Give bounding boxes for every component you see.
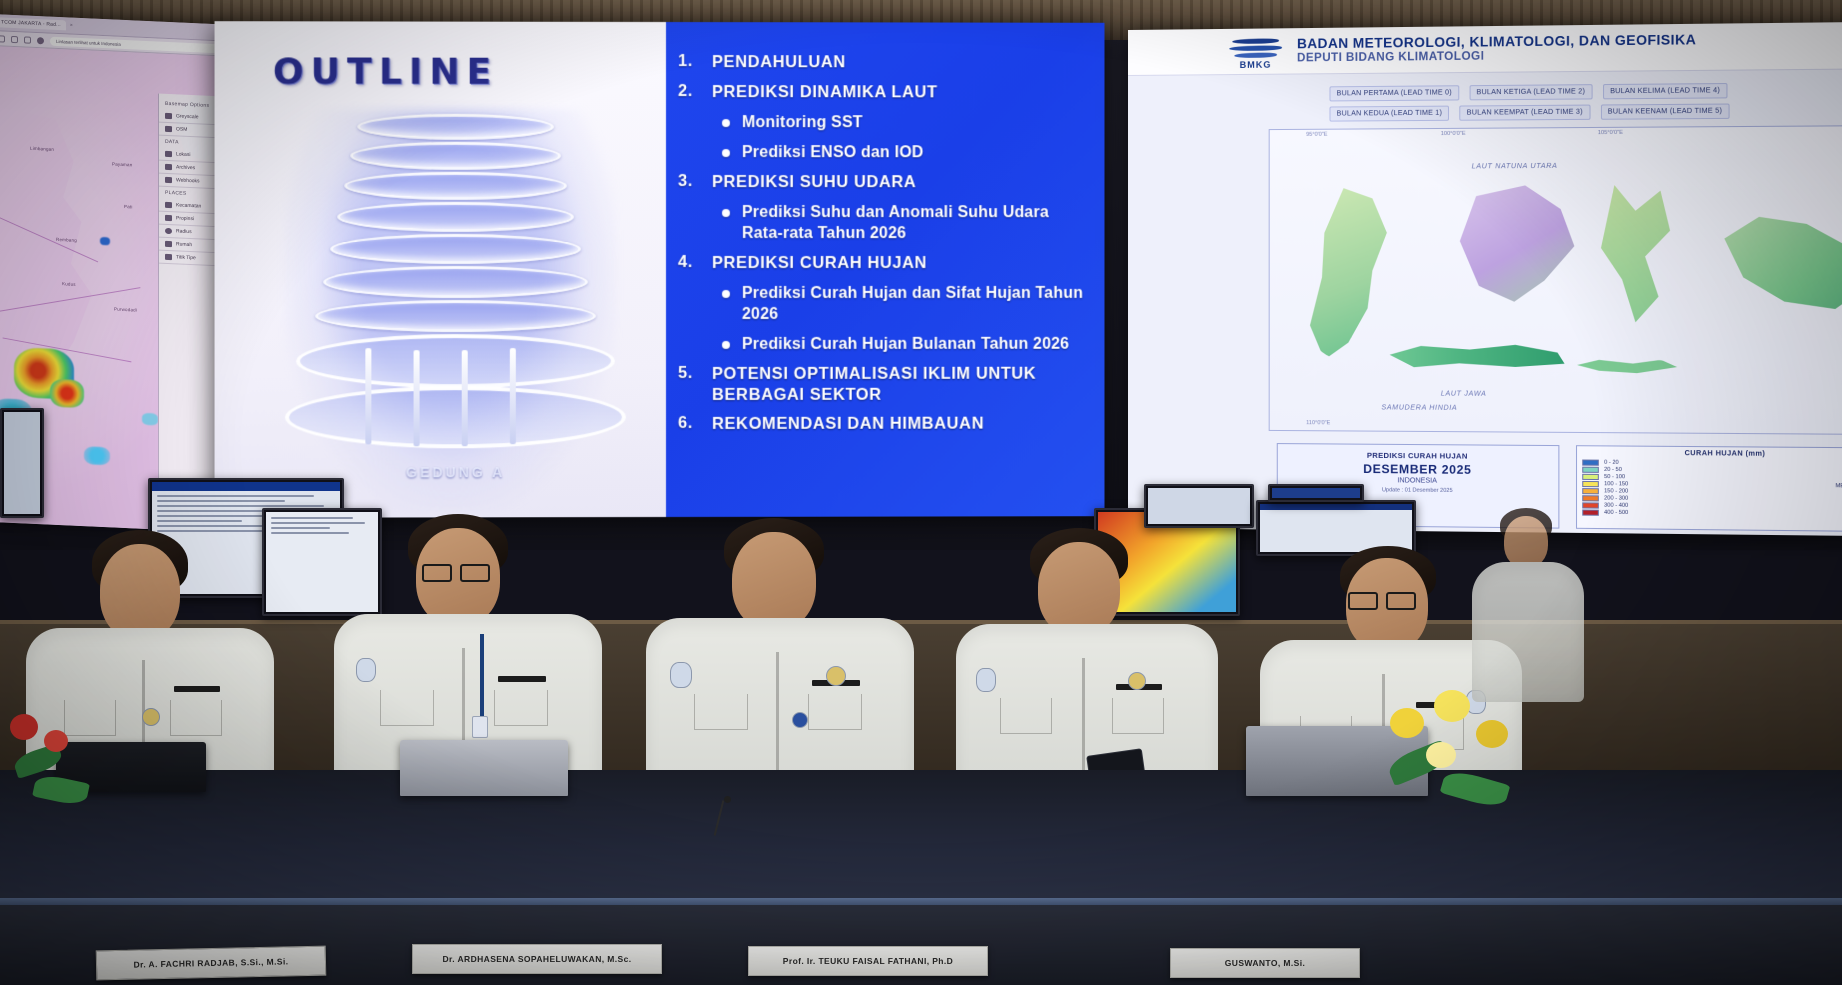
outline-item-number: 3. [678,172,700,191]
tower-ring [315,300,596,332]
slide-outline-list: 1. PENDAHULUAN 2. PREDIKSI DINAMIKA LAUT… [666,22,1104,517]
legend-range: 400 - 500 [1604,510,1628,516]
outline-subitem: Prediksi Suhu dan Anomali Suhu Udara Rat… [722,202,1095,244]
desk-monitor-6[interactable] [1268,484,1364,502]
back-icon[interactable] [0,35,5,42]
slide-left-panel: OUTLINE GEDUNG A [215,21,666,518]
tab-bulan-keempat[interactable]: BULAN KEEMPAT (LEAD TIME 3) [1460,105,1590,121]
flower-arrangement-left [0,690,120,830]
island-sulawesi [1589,185,1685,328]
data-item-label: Lokasi [176,151,190,158]
outline-item-text: REKOMENDASI DAN HIMBAUAN [712,414,984,435]
outline-subitem-text: Monitoring SST [742,112,863,133]
shoulder-patch [670,662,692,688]
data-item-label: Webhooks [176,177,200,184]
outline-subitem-text: Prediksi Curah Hujan Bulanan Tahun 2026 [742,334,1069,355]
center-projection-screen: OUTLINE GEDUNG A [215,21,1105,518]
legend-swatch [1582,488,1599,494]
legend-category: MENENGAH [1835,483,1842,489]
head [1038,542,1120,636]
forward-icon[interactable] [11,35,18,42]
legend-range: 100 - 150 [1604,481,1628,487]
map-label: Payaman [112,161,132,167]
flower [1434,690,1470,722]
outline-subitem-text: Prediksi ENSO dan IOD [742,142,924,163]
microphone [700,800,740,840]
leadtime-tabs-row2[interactable]: BULAN KEDUA (LEAD TIME 1) BULAN KEEMPAT … [1329,104,1729,122]
outline-item-text: POTENSI OPTIMALISASI IKLIM UNTUK BERBAGA… [712,364,1081,406]
name-tag [498,676,546,682]
uniform-emblem [1128,672,1146,690]
outline-item-number: 1. [678,52,700,71]
tower-ring [344,172,567,200]
uniform-emblem [826,666,846,686]
screen-banner [1260,504,1412,510]
legend-range: 0 - 20 [1604,460,1619,466]
outline-item-number: 6. [678,414,700,433]
tag-icon [165,254,172,260]
legend-rows: 0 - 20 RENDAH 20 - 50 50 - 100 100 - 150 [1577,456,1842,522]
legend-range: 200 - 300 [1604,495,1628,501]
legend-range: 20 - 50 [1604,467,1622,473]
outline-item-number: 4. [678,253,700,272]
browser-tab-label[interactable]: TCOM JAKARTA - Rad... [0,17,66,30]
legend-swatch [1582,481,1599,487]
legend-row: 400 - 500 [1582,509,1842,518]
sea-label-hindia: SAMUDERA HINDIA [1381,404,1457,412]
sea-label-natuna: LAUT NATUNA UTARA [1472,163,1558,171]
glasses-icon [1348,592,1378,610]
uniform-emblem [142,708,160,726]
bmkg-logo-icon: BMKG [1220,34,1291,73]
monitor-screen[interactable] [1148,488,1250,524]
map-label: Limbangan [30,146,54,152]
monitor-screen[interactable] [1272,488,1360,498]
glasses-icon [1386,592,1416,610]
globe-icon [165,126,172,132]
legend-range: 50 - 100 [1604,474,1625,480]
home-icon[interactable] [24,36,31,43]
coordinate-label: 110°0'0"E [1306,420,1330,426]
bullet-icon [722,149,730,157]
island-sumatra [1298,188,1418,360]
logo-wave [1232,38,1280,44]
logo-wave [1228,45,1282,51]
outline-subitem-text: Prediksi Suhu dan Anomali Suhu Udara Rat… [742,202,1086,244]
profile-icon[interactable] [37,37,44,44]
leadtime-tabs-row1[interactable]: BULAN PERTAMA (LEAD TIME 0) BULAN KETIGA… [1329,83,1727,101]
flower [1390,708,1424,738]
tab-bulan-pertama[interactable]: BULAN PERTAMA (LEAD TIME 0) [1329,85,1459,101]
nameplate-3: Prof. Ir. TEUKU FAISAL FATHANI, Ph.D [748,946,988,976]
shoulder-patch [356,658,376,682]
leaf [1440,767,1511,810]
slide-title: OUTLINE [273,51,498,92]
radar-echo [84,446,110,465]
map-label: Purwodadi [114,307,137,313]
head [732,532,816,630]
tower-ring [350,142,561,170]
name-tag [174,686,220,692]
tower-ring [330,234,581,264]
outline-item: 3. PREDIKSI SUHU UDARA [678,172,1095,193]
monitor-screen[interactable] [4,412,40,514]
outline-item-text: PREDIKSI SUHU UDARA [712,172,916,193]
map-label: Rembang [56,237,77,243]
data-item-label: Archives [176,164,195,171]
outline-item-text: PREDIKSI CURAH HUJAN [712,253,927,274]
map-label: Pati [124,204,133,209]
radar-echo [50,379,84,409]
shirt-pocket [1112,698,1164,734]
polygon-icon [165,202,172,208]
indonesia-rainfall-map[interactable]: LAUT NATUNA UTARA LAUT JAWA SAMUDERA HIN… [1269,125,1842,435]
logo-wave [1234,52,1278,57]
legend-range: 150 - 200 [1604,488,1628,494]
outline-item-text: PENDAHULUAN [712,52,846,73]
flower [1426,742,1456,768]
places-item-label: Propinsi [176,215,194,222]
person-background-staff [1470,500,1590,700]
tower-ring [337,202,574,232]
close-icon[interactable]: × [70,23,73,29]
tower-pillar [365,348,371,444]
leaf [32,773,90,808]
map-label: Kudus [62,281,76,287]
shirt-pocket [494,690,548,726]
places-item-label: Kecamatan [176,202,201,209]
tower-pillar [510,348,516,444]
legend-swatch [1582,467,1599,473]
desk-monitor-7[interactable] [0,408,44,518]
marker-icon [165,241,172,247]
basemap-item-label: OSM [176,126,187,133]
glasses-icon [460,564,490,582]
bullet-icon [722,209,730,217]
pin-badge [792,712,808,728]
island-kalimantan [1449,185,1585,318]
glasses-icon [422,564,452,582]
places-item-label: Radius [176,228,192,235]
flower [10,714,38,740]
id-card [472,716,488,738]
bmkg-org-line2: DEPUTI BIDANG KLIMATOLOGI [1297,50,1484,64]
legend-range: 300 - 400 [1604,503,1628,509]
head [100,544,180,640]
outline-item: 4. PREDIKSI CURAH HUJAN [678,253,1095,274]
tab-bulan-keenam[interactable]: BULAN KEENAM (LEAD TIME 5) [1600,104,1729,120]
press-conference-scene: TCOM JAKARTA - Rad... × Lintasan terliha… [0,0,1842,985]
right-display-bmkg-map: BMKG BADAN METEOROLOGI, KLIMATOLOGI, DAN… [1128,22,1842,536]
tab-bulan-kedua[interactable]: BULAN KEDUA (LEAD TIME 1) [1329,106,1449,122]
outline-subitem: Prediksi Curah Hujan Bulanan Tahun 2026 [722,334,1095,355]
outline-item: 2. PREDIKSI DINAMIKA LAUT [678,82,1095,103]
grid-icon [165,215,172,221]
bullet-icon [722,119,730,127]
tower-pillar [414,350,420,446]
island-papua [1715,207,1842,329]
nameplate-4: GUSWANTO, M.Si. [1170,948,1360,978]
outline-item: 6. REKOMENDASI DAN HIMBAUAN [678,414,1095,435]
layers-icon [165,113,172,119]
building-illustration: GEDUNG A [245,99,666,517]
basemap-item-label: Greyscale [176,113,199,120]
shirt-pocket [1000,698,1052,734]
tower-ring [357,114,554,140]
nameplate-2: Dr. ARDHASENA SOPAHELUWAKAN, M.Sc. [412,944,662,974]
info-line2: DESEMBER 2025 [1278,461,1559,477]
tab-bulan-ketiga[interactable]: BULAN KETIGA (LEAD TIME 2) [1469,84,1592,100]
island-java [1390,342,1565,377]
head [1504,516,1548,568]
places-item-label: Rumah [176,241,192,248]
bullet-icon [722,290,730,298]
shirt-pocket [380,690,434,726]
bullet-icon [722,341,730,349]
laptop-1[interactable] [400,740,568,796]
mic-head-icon [724,796,731,803]
tower-base-ring [285,386,626,448]
outline-item-number: 5. [678,364,700,383]
shoulder-patch [976,668,996,692]
nameplate-1: Dr. A. FACHRI RADJAB, S.Si., M.Si. [96,946,327,981]
coordinate-label: 105°0'0"E [1598,130,1623,136]
tower-base-ring [296,334,615,388]
info-line1: PREDIKSI CURAH HUJAN [1278,450,1559,461]
outline-item-text: PREDIKSI DINAMIKA LAUT [712,82,938,103]
shirt-pocket [170,700,222,736]
outline-subitem: Prediksi Curah Hujan dan Sifat Hujan Tah… [722,283,1095,325]
island-nusa-tenggara [1577,359,1677,376]
tab-bulan-kelima[interactable]: BULAN KELIMA (LEAD TIME 4) [1603,83,1728,99]
tower-ring [323,266,588,298]
outline-item: 1. PENDAHULUAN [678,52,1095,73]
outline-subitem: Prediksi ENSO dan IOD [722,142,1095,163]
sea-label-jawa: LAUT JAWA [1441,391,1487,398]
radar-echo [142,413,158,426]
bmkg-logo-text: BMKG [1240,59,1272,69]
circle-icon [165,228,172,234]
panel-desk-surface [0,770,1842,910]
radar-echo [100,237,110,245]
lanyard [480,634,484,718]
funnel-icon [165,177,172,183]
shirt-pocket [694,694,748,730]
outline-subitem: Monitoring SST [722,112,1095,133]
building-label: GEDUNG A [406,464,505,480]
flower [1476,720,1508,748]
outline-item-number: 2. [678,82,700,101]
outline-subitem-text: Prediksi Curah Hujan dan Sifat Hujan Tah… [742,283,1086,325]
coordinate-label: 100°0'0"E [1441,131,1466,137]
pin-icon [165,151,172,157]
flower [44,730,68,752]
shirt-pocket [808,694,862,730]
places-item-label: Titik Tipe [176,254,196,261]
tower-pillar [462,350,468,446]
rainfall-legend: CURAH HUJAN (mm) 0 - 20 RENDAH 20 - 50 5… [1576,445,1842,532]
outline-item: 5. POTENSI OPTIMALISASI IKLIM UNTUK BERB… [678,364,1095,406]
mic-stem [714,800,725,835]
coordinate-label: 95°0'0"E [1306,132,1327,138]
flower-arrangement-right [1372,680,1562,860]
archive-icon [165,164,172,170]
legend-swatch [1582,474,1599,480]
legend-swatch [1582,460,1599,466]
